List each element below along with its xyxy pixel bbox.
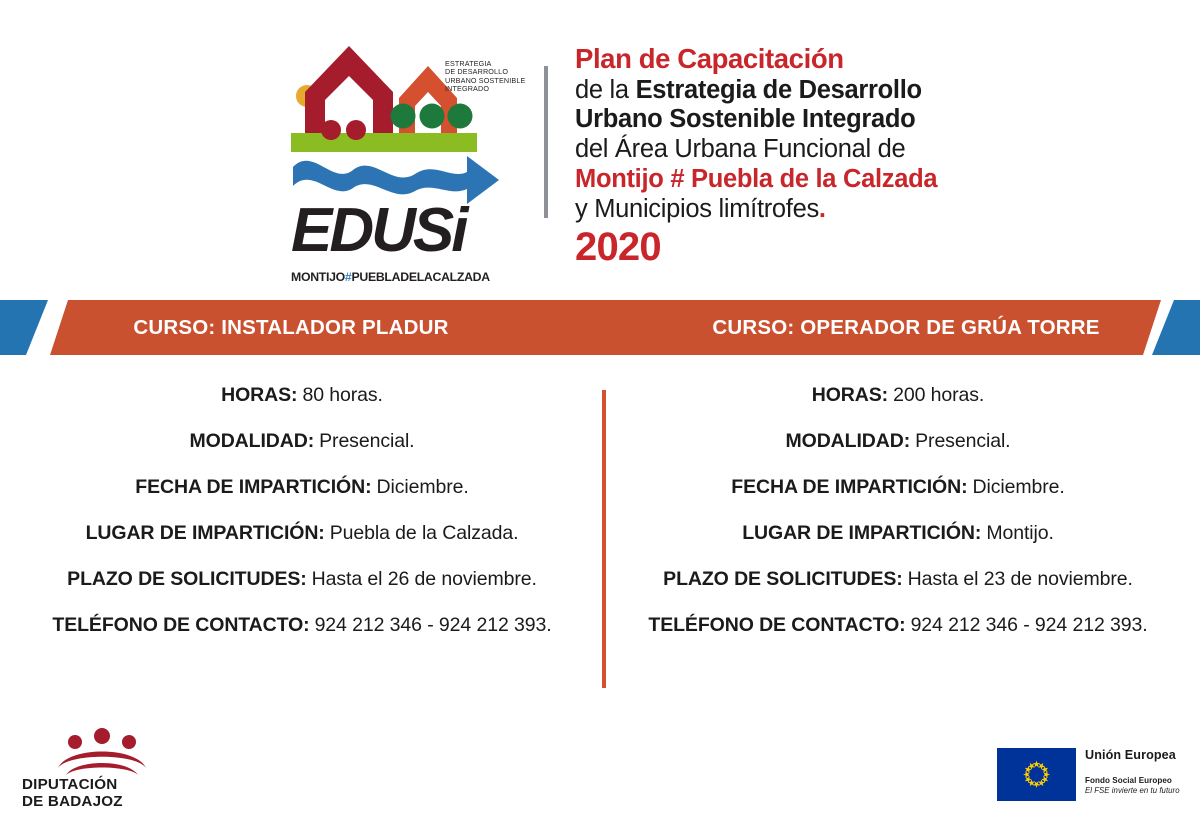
detail-row-fecha-imparticion: FECHA DE IMPARTICIÓN: Diciembre. [608,464,1188,510]
eu-subtitle-1: Fondo Social Europeo [1085,776,1189,786]
title-line-6: y Municipios limítrofes. [575,194,1175,225]
course-details: HORAS: 80 horas. MODALIDAD: Presencial. … [0,372,1200,697]
detail-key: MODALIDAD: [785,430,910,453]
title-line-2: de la Estrategia de Desarrollo [575,75,1175,105]
detail-key: FECHA DE IMPARTICIÓN: [135,476,371,499]
detail-value: 924 212 346 - 924 212 393. [310,614,552,637]
detail-value: Diciembre. [372,476,469,499]
title-line-1-text: Plan de Capacitación [575,43,844,74]
detail-key: LUGAR DE IMPARTICIÓN: [86,522,325,545]
diputacion-crown-icon [44,728,160,776]
detail-row-modalidad: MODALIDAD: Presencial. [12,418,592,464]
edusi-wordmark-icon: EDUSi [291,199,491,261]
detail-value: Hasta el 23 de noviembre. [903,568,1133,591]
detail-value: Presencial. [910,430,1010,453]
detail-value: 924 212 346 - 924 212 393. [906,614,1148,637]
union-europea-logo: Unión Europea Fondo Social Europeo El FS… [997,748,1187,808]
detail-key: HORAS: [812,384,888,407]
detail-value: Montijo. [981,522,1053,545]
detail-row-horas: HORAS: 80 horas. [12,372,592,418]
eu-flag-icon [997,748,1076,801]
diputacion-wordmark: DIPUTACIÓN DE BADAJOZ [22,776,182,810]
edusi-logo: ESTRATEGIA DE DESARROLLO URBANO SOSTENIB… [287,34,537,264]
detail-key: PLAZO DE SOLICITUDES: [67,568,307,591]
column-divider [602,390,606,688]
title-line-2-bold: Estrategia de Desarrollo [636,76,922,104]
eu-subtitle-2: El FSE invierte en tu futuro [1085,786,1189,796]
banner-label-instalador-pladur: CURSO: INSTALADOR PLADUR [0,316,600,340]
course-column-instalador-pladur: HORAS: 80 horas. MODALIDAD: Presencial. … [12,372,592,648]
detail-key: PLAZO DE SOLICITUDES: [663,568,903,591]
edusi-sub-pre: MONTIJO [291,270,345,284]
title-line-4: del Área Urbana Funcional de [575,134,1175,164]
detail-value: Puebla de la Calzada. [325,522,519,545]
edusi-logo-tagline: ESTRATEGIA DE DESARROLLO URBANO SOSTENIB… [445,60,537,94]
detail-row-plazo-solicitudes: PLAZO DE SOLICITUDES: Hasta el 23 de nov… [608,556,1188,602]
title-line-5-red: Montijo # Puebla de la Calzada [575,165,937,193]
banner-label-row: CURSO: INSTALADOR PLADUR CURSO: OPERADOR… [0,300,1200,355]
edusi-sub-end: CALZADA [433,270,490,284]
detail-row-telefono-contacto: TELÉFONO DE CONTACTO: 924 212 346 - 924 … [608,602,1188,648]
diputacion-de-badajoz-logo: DIPUTACIÓN DE BADAJOZ [22,728,182,818]
detail-value: 200 horas. [888,384,984,407]
diputacion-line-2: DE BADAJOZ [22,793,182,810]
header-divider [544,66,548,218]
diputacion-line-1: DIPUTACIÓN [22,776,182,793]
title-line-3: Urbano Sostenible Integrado [575,105,1175,134]
detail-row-fecha-imparticion: FECHA DE IMPARTICIÓN: Diciembre. [12,464,592,510]
edusi-logo-subtitle: MONTIJO#PUEBLADELACALZADA [291,270,487,284]
course-column-operador-grua-torre: HORAS: 200 horas. MODALIDAD: Presencial.… [608,372,1188,648]
eu-stars-icon [997,748,1076,801]
detail-key: TELÉFONO DE CONTACTO: [648,614,905,637]
detail-row-modalidad: MODALIDAD: Presencial. [608,418,1188,464]
course-banner: CURSO: INSTALADOR PLADUR CURSO: OPERADOR… [0,300,1200,355]
title-year: 2020 [575,225,1175,269]
poster-root: ESTRATEGIA DE DESARROLLO URBANO SOSTENIB… [0,0,1200,834]
detail-key: HORAS: [221,384,297,407]
title-line-6-light: y Municipios limítrofes [575,195,819,223]
poster-title: Plan de Capacitación de la Estrategia de… [575,43,1175,269]
detail-value: Hasta el 26 de noviembre. [307,568,537,591]
detail-row-lugar-imparticion: LUGAR DE IMPARTICIÓN: Puebla de la Calza… [12,510,592,556]
detail-row-plazo-solicitudes: PLAZO DE SOLICITUDES: Hasta el 26 de nov… [12,556,592,602]
edusi-sub-post: PUEBLA [351,270,400,284]
detail-key: MODALIDAD: [189,430,314,453]
detail-row-lugar-imparticion: LUGAR DE IMPARTICIÓN: Montijo. [608,510,1188,556]
detail-key: TELÉFONO DE CONTACTO: [52,614,309,637]
detail-key: LUGAR DE IMPARTICIÓN: [742,522,981,545]
detail-value: Presencial. [314,430,414,453]
eu-title: Unión Europea [1085,748,1189,762]
poster-footer: DIPUTACIÓN DE BADAJOZ [0,700,1200,834]
title-line-2-light: de la [575,76,636,104]
title-line-3-bold: Urbano Sostenible Integrado [575,105,915,133]
detail-row-telefono-contacto: TELÉFONO DE CONTACTO: 924 212 346 - 924 … [12,602,592,648]
title-line-1: Plan de Capacitación [575,43,1175,75]
detail-row-horas: HORAS: 200 horas. [608,372,1188,418]
poster-header: ESTRATEGIA DE DESARROLLO URBANO SOSTENIB… [0,0,1200,290]
banner-label-operador-grua-torre: CURSO: OPERADOR DE GRÚA TORRE [600,316,1200,340]
svg-text:EDUSi: EDUSi [291,199,470,261]
detail-value: Diciembre. [968,476,1065,499]
detail-key: FECHA DE IMPARTICIÓN: [731,476,967,499]
edusi-sub-small: DELA [400,270,432,284]
title-line-5: Montijo # Puebla de la Calzada [575,164,1175,194]
eu-text-block: Unión Europea Fondo Social Europeo El FS… [1085,748,1189,796]
detail-value: 80 horas. [297,384,382,407]
title-line-6-period: . [819,195,826,223]
title-line-4-light: del Área Urbana Funcional de [575,135,905,163]
